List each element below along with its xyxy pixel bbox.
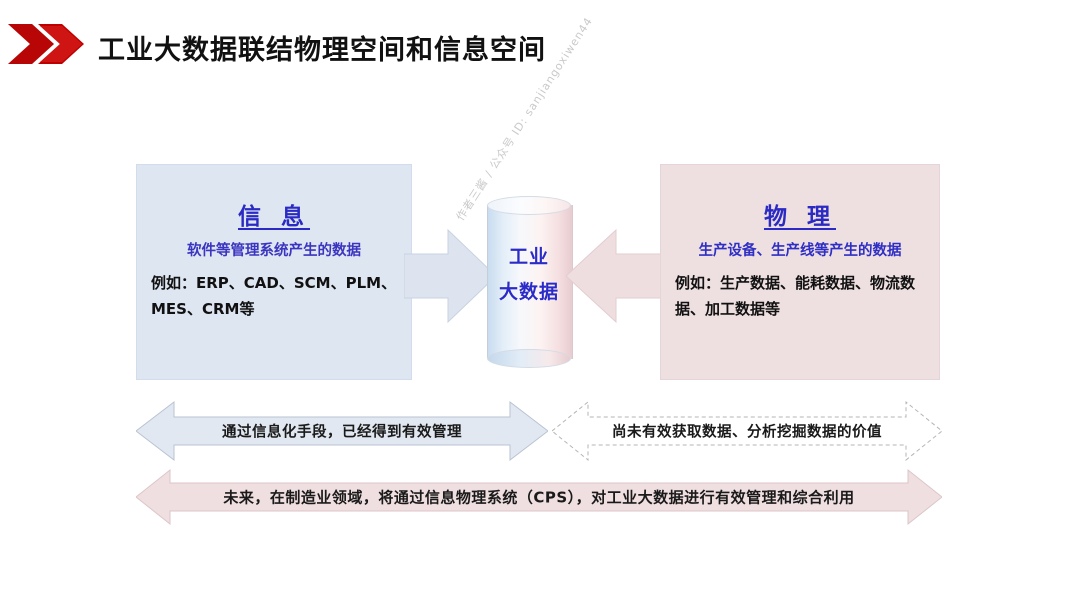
physical-panel-body: 例如：生产数据、能耗数据、物流数据、加工数据等 [675, 270, 925, 323]
unmined-arrow: 尚未有效获取数据、分析挖掘数据的价值 [552, 400, 942, 462]
physical-panel: 物 理 生产设备、生产线等产生的数据 例如：生产数据、能耗数据、物流数据、加工数… [660, 164, 940, 380]
arrow-left-icon [566, 228, 664, 324]
page-header: 工业大数据联结物理空间和信息空间 [0, 0, 1080, 90]
page-title: 工业大数据联结物理空间和信息空间 [98, 28, 546, 67]
info-panel-heading: 信 息 [137, 197, 411, 231]
cylinder-top-ellipse [487, 196, 571, 215]
info-panel-body: 例如：ERP、CAD、SCM、PLM、MES、CRM等 [151, 270, 397, 323]
cylinder-label-line1: 工业 [487, 240, 571, 275]
double-headed-arrow-icon [136, 468, 942, 526]
future-arrow: 未来，在制造业领域，将通过信息物理系统（CPS），对工业大数据进行有效管理和综合… [136, 468, 942, 526]
arrow-right-icon [404, 228, 496, 324]
physical-panel-subtitle: 生产设备、生产线等产生的数据 [661, 239, 939, 260]
double-chevron-right-icon [8, 22, 84, 66]
double-headed-arrow-icon [136, 400, 548, 462]
cylinder-label: 工业 大数据 [487, 240, 571, 310]
cylinder-bottom-ellipse [487, 349, 571, 368]
info-panel: 信 息 软件等管理系统产生的数据 例如：ERP、CAD、SCM、PLM、MES、… [136, 164, 412, 380]
physical-panel-heading: 物 理 [661, 197, 939, 231]
industrial-bigdata-cylinder: 工业 大数据 [487, 196, 571, 368]
managed-arrow: 通过信息化手段，已经得到有效管理 [136, 400, 548, 462]
info-panel-subtitle: 软件等管理系统产生的数据 [137, 239, 411, 260]
cylinder-label-line2: 大数据 [487, 275, 571, 310]
double-headed-arrow-icon [552, 400, 942, 462]
